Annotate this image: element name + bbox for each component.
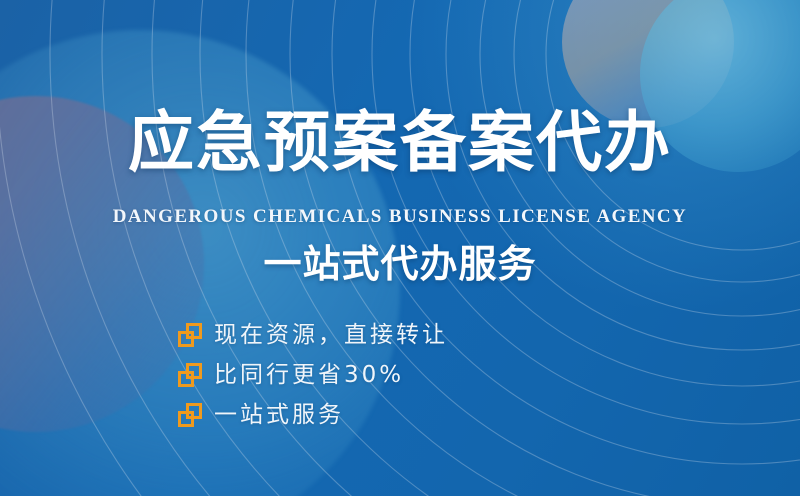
page-title: 应急预案备案代办 [0,110,800,176]
feature-label: 比同行更省30% [214,364,404,387]
banner-content: 应急预案备案代办 DANGEROUS CHEMICALS BUSINESS LI… [0,0,800,496]
layered-squares-icon [178,363,202,387]
list-item: 现在资源，直接转让 [178,316,448,354]
promo-banner: 应急预案备案代办 DANGEROUS CHEMICALS BUSINESS LI… [0,0,800,496]
feature-list: 现在资源，直接转让 比同行更省30% 一站式服务 [178,316,448,436]
subtitle-english: DANGEROUS CHEMICALS BUSINESS LICENSE AGE… [0,206,800,229]
subtitle-chinese: 一站式代办服务 [0,244,800,286]
layered-squares-icon [178,323,202,347]
layered-squares-icon [178,403,202,427]
feature-label: 一站式服务 [214,404,344,427]
feature-label: 现在资源，直接转让 [214,324,448,347]
list-item: 一站式服务 [178,396,448,434]
list-item: 比同行更省30% [178,356,448,394]
